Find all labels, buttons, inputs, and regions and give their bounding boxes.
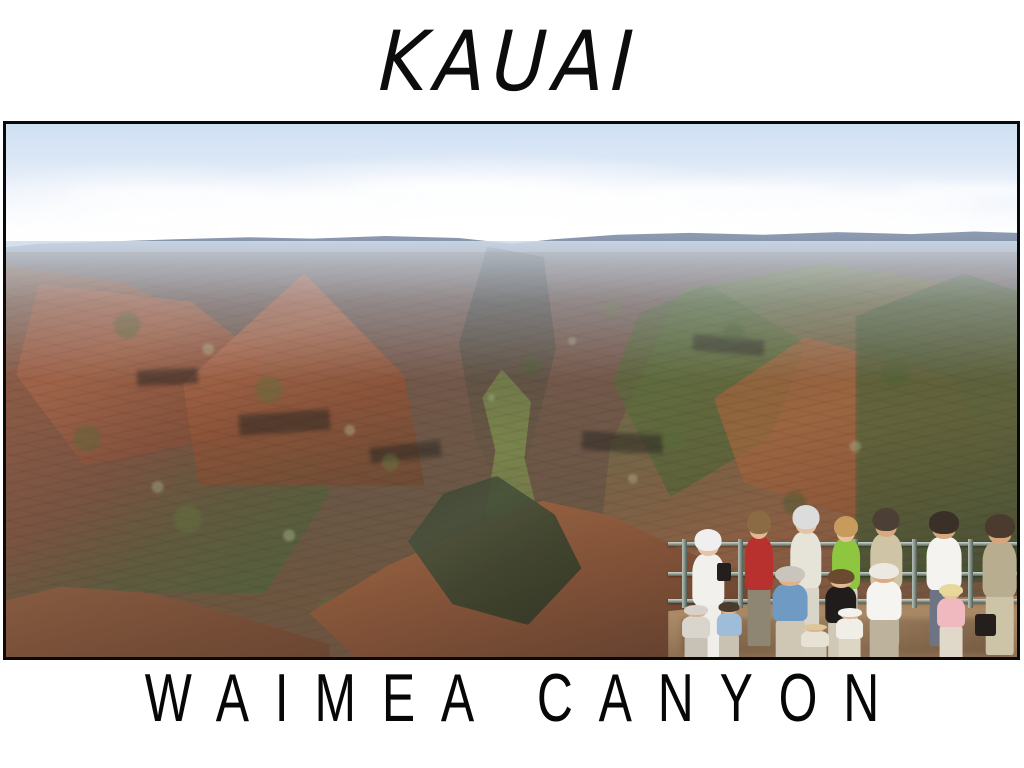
cloud (633, 187, 835, 198)
railing-post (738, 539, 743, 609)
cloud (896, 185, 1017, 196)
cloud (795, 197, 977, 206)
torso (801, 631, 829, 647)
hair (873, 508, 900, 531)
child-tan-hat-foreground (801, 624, 829, 657)
child-white-hat (836, 608, 864, 657)
woman-red-tank-top (745, 511, 773, 645)
torso (937, 598, 965, 627)
torso (982, 541, 1017, 597)
railing-post (968, 539, 973, 609)
hair (985, 514, 1015, 538)
hair (869, 563, 899, 580)
legs (803, 646, 826, 657)
man-white-cap-camera (867, 563, 902, 657)
black-shoulder-bag (717, 563, 731, 581)
legs (939, 626, 962, 657)
hair (929, 511, 959, 534)
legs (747, 587, 770, 646)
hair (775, 566, 805, 582)
canyon-photo (6, 124, 1017, 657)
cloud (137, 211, 400, 219)
railing-post (912, 539, 917, 609)
hair (684, 605, 708, 614)
cloud (218, 197, 380, 206)
hair (792, 505, 819, 529)
overlook-platform (668, 505, 1017, 657)
hair (803, 624, 827, 631)
hair (939, 584, 963, 596)
hair (834, 516, 858, 537)
railing-post (682, 539, 687, 609)
girl-blonde-pink-top (937, 584, 965, 657)
child-blue-shirt (717, 602, 741, 657)
legs (838, 638, 861, 657)
page-title: KAUAI (0, 14, 1024, 110)
photo-frame (3, 121, 1020, 660)
legs (719, 635, 739, 657)
legs (870, 618, 899, 657)
person-grey-hair-seated (682, 605, 710, 657)
hair (747, 511, 771, 534)
black-backpack-ground (975, 614, 996, 635)
postcard: KAUAI (0, 0, 1024, 768)
torso (682, 616, 710, 638)
torso (867, 581, 902, 620)
torso (717, 613, 741, 636)
hair (695, 529, 722, 551)
caption-text: WAIMEA CANYON (72, 663, 953, 735)
torso (836, 618, 864, 639)
torso (773, 584, 808, 622)
torso (926, 537, 961, 590)
torso (745, 537, 773, 590)
hair (838, 608, 862, 617)
legs (685, 637, 708, 658)
hair (719, 602, 740, 612)
hair (827, 569, 854, 584)
